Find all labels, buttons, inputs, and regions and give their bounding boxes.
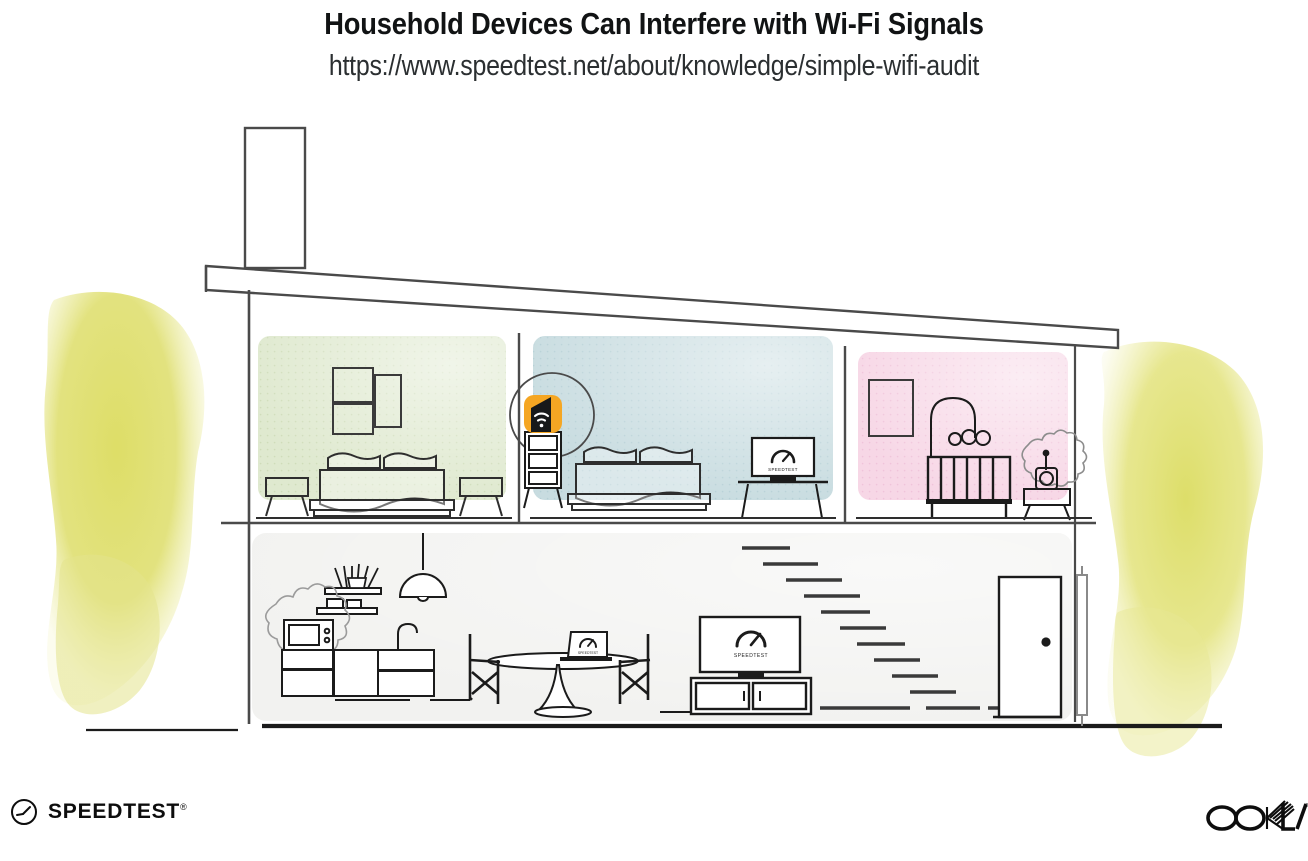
television: SPEEDTEST xyxy=(700,617,800,677)
media-console xyxy=(691,678,811,714)
monitor-brand-label: SPEEDTEST xyxy=(768,467,798,472)
ookla-wordmark: ® xyxy=(1205,795,1308,841)
foliage-right xyxy=(1102,342,1263,757)
house-cutaway-illustration: SPEEDTEST xyxy=(0,0,1308,861)
door-knob-icon[interactable] xyxy=(1041,637,1050,646)
infographic-canvas: Household Devices Can Interfere with Wi-… xyxy=(0,0,1308,861)
tv-brand-label: SPEEDTEST xyxy=(734,653,768,659)
laptop-brand-label: SPEEDTEST xyxy=(578,651,598,655)
foliage-left xyxy=(44,292,204,714)
wifi-router xyxy=(524,395,562,433)
speedtest-logo: SPEEDTEST® xyxy=(10,798,188,826)
speedtest-gauge-icon xyxy=(10,798,38,826)
bed-blue xyxy=(568,447,710,510)
chimney xyxy=(245,128,305,268)
kitchen-cabinets xyxy=(282,650,434,696)
front-door[interactable] xyxy=(999,577,1061,717)
speedtest-wordmark: SPEEDTEST® xyxy=(48,800,188,824)
room-living-kitchen: SPEEDTEST SPEEDTEST xyxy=(252,533,1087,726)
roof xyxy=(206,266,1118,348)
brand-text: SPEEDTEST xyxy=(48,800,180,823)
room-nursery-pink xyxy=(856,352,1092,520)
microwave xyxy=(284,620,333,650)
ookla-logo: ® xyxy=(1205,795,1308,846)
room-bedroom-blue: SPEEDTEST xyxy=(510,336,836,518)
sidelight-window xyxy=(1077,566,1087,726)
brand-trademark: ® xyxy=(180,802,187,812)
room-bedroom-green xyxy=(256,336,512,518)
